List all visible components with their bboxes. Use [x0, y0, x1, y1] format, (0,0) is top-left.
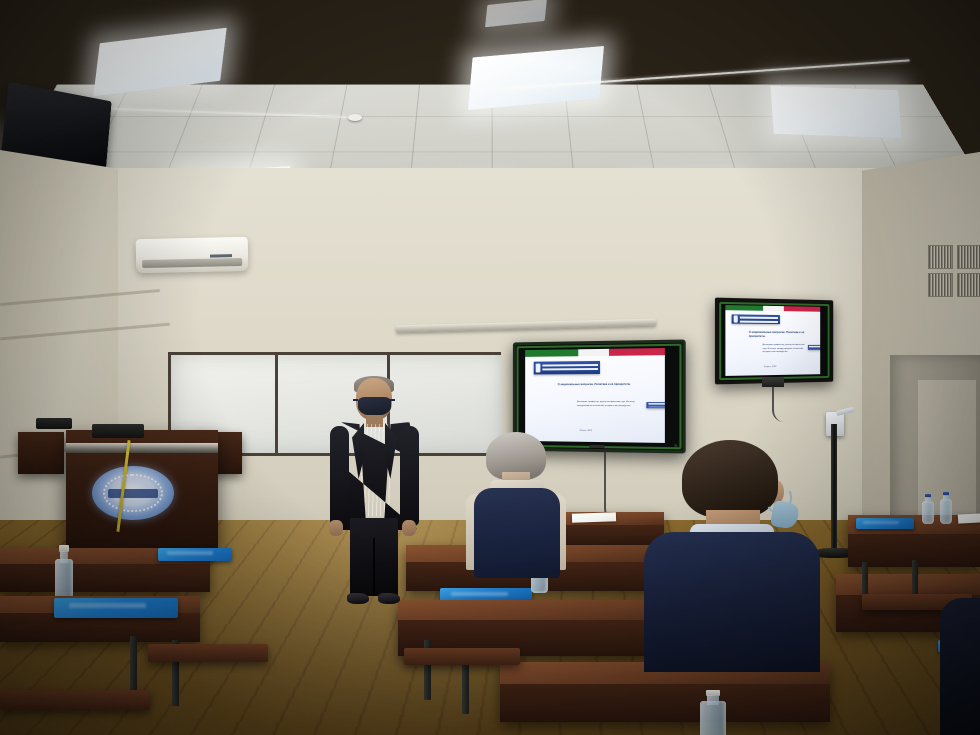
air-conditioner-vent	[142, 258, 242, 268]
smoke-detector-icon	[348, 114, 362, 121]
presenter-shoe-right	[378, 593, 400, 604]
conference-folder[interactable]	[54, 598, 178, 618]
ventilation-grille-icon	[928, 245, 980, 297]
slide-subtitle: Докладчик: профессор, доктор исторически…	[762, 344, 809, 355]
slide-content-secondary: О национальных вопросах. Политика и её п…	[725, 305, 820, 376]
university-crest-icon	[535, 364, 541, 372]
slide-side-tab	[646, 402, 665, 409]
conference-folder[interactable]	[856, 518, 914, 529]
trouser-seam	[373, 538, 375, 596]
av-control-equipment[interactable]	[36, 418, 72, 429]
desk-panel	[0, 564, 210, 592]
whiteboard-divider	[275, 355, 278, 453]
face-mask-icon	[770, 500, 800, 530]
slide-title: О национальных вопросах. Политика и её п…	[749, 330, 807, 338]
slide-band-white	[763, 306, 783, 311]
slide-color-band	[725, 305, 820, 312]
slide-band-green	[525, 350, 578, 357]
slide-logo-text	[739, 316, 777, 322]
presenter-arm-left	[330, 426, 349, 526]
slide-band-red	[609, 348, 665, 355]
ceiling-light-panel	[770, 86, 901, 139]
sanitizer-stand-pole	[831, 424, 837, 554]
presenter-hand-right	[402, 520, 416, 536]
av-control-equipment[interactable]	[92, 424, 144, 438]
slide-band-red	[784, 306, 820, 311]
presenter-hand-left	[329, 520, 343, 536]
water-bottle[interactable]	[922, 494, 934, 524]
slide-band-white	[579, 349, 609, 356]
water-bottle[interactable]	[700, 690, 726, 735]
slide-footer: Казань, 2021	[580, 429, 592, 431]
university-crest-icon	[733, 316, 737, 323]
attendee-hair	[682, 440, 778, 518]
slide-color-band	[525, 348, 665, 356]
vent-cell	[957, 245, 980, 269]
lectern-equipment-rail	[66, 443, 218, 453]
university-crest-emblem	[92, 466, 174, 520]
bottle-body	[940, 499, 952, 524]
lectern-side-panel	[18, 432, 64, 474]
presenter-arm-right	[400, 426, 419, 526]
vent-cell	[928, 273, 953, 297]
attendee-front-person	[456, 432, 576, 577]
slide-university-logo	[533, 361, 600, 374]
vent-cell	[928, 245, 953, 269]
air-conditioner-display	[210, 254, 232, 257]
slide-side-tab-text	[648, 403, 665, 407]
presenter-shoe-left	[347, 593, 369, 604]
slide-title: О национальных вопросах. Политика и её п…	[558, 382, 645, 386]
bench-seat	[404, 648, 520, 665]
paper-sheet[interactable]	[572, 512, 616, 523]
desk-leg	[130, 636, 137, 698]
water-bottle[interactable]	[940, 492, 952, 524]
slide-band-green	[725, 305, 763, 311]
screen-power-cable	[772, 386, 784, 422]
slide-logo-text	[543, 364, 599, 372]
attendee-far-right-person	[940, 598, 980, 735]
bench-seat	[148, 644, 268, 662]
slide-side-tab	[808, 345, 820, 350]
slide-footer: Казань, 2021	[764, 366, 776, 368]
attendee-suit-jacket	[644, 532, 820, 672]
attendee-vest	[474, 488, 560, 578]
screen-brand-mark	[589, 445, 605, 448]
slide-subtitle: Докладчик: профессор, доктор исторически…	[577, 401, 648, 408]
desk-surface	[836, 574, 980, 595]
bench-seat	[0, 690, 150, 710]
bottle-body	[922, 501, 934, 524]
paper-sheet[interactable]	[958, 513, 980, 523]
attendee-right-person	[640, 440, 820, 670]
presentation-screen-secondary[interactable]: О национальных вопросах. Политика и её п…	[715, 298, 833, 385]
slide-side-tab-text	[809, 346, 820, 349]
air-conditioner	[136, 237, 249, 273]
ceiling-light-panel	[485, 0, 547, 27]
slide-content-main: О национальных вопросах. Политика и её п…	[525, 348, 665, 442]
presenter-person	[322, 378, 426, 606]
face-mask-icon	[358, 397, 391, 416]
lecture-hall-photo: О национальных вопросах. Политика и её п…	[0, 0, 980, 735]
bottle-body	[700, 701, 726, 735]
conference-folder[interactable]	[158, 548, 232, 561]
desk-panel	[500, 684, 830, 722]
vent-cell	[957, 273, 980, 297]
slide-university-logo	[731, 314, 779, 324]
